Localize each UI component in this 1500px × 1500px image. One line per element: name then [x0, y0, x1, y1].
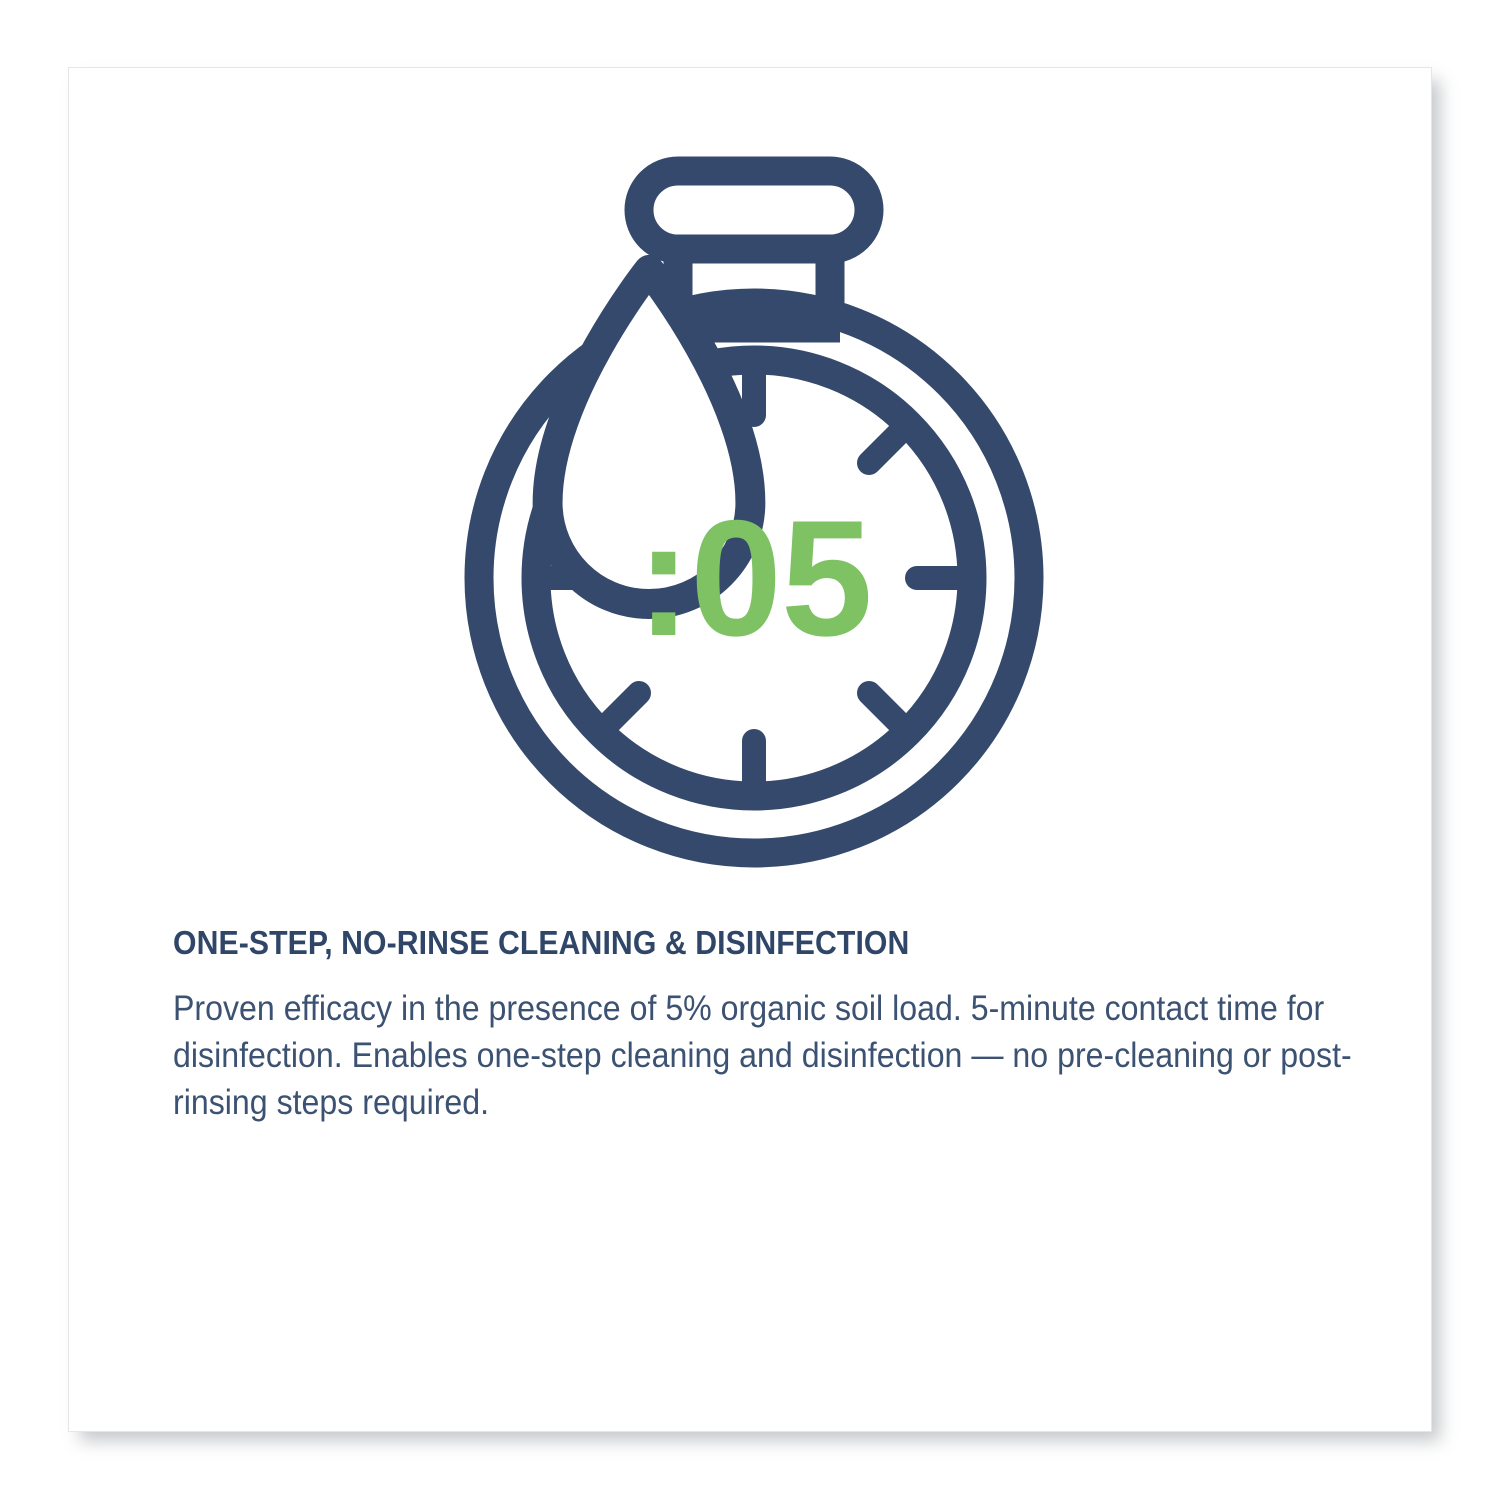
feature-text-block: ONE-STEP, NO-RINSE CLEANING & DISINFECTI… [173, 923, 1398, 1126]
feature-card: :05 ONE-STEP, NO-RINSE CLEANING & DISINF… [68, 67, 1432, 1432]
crown-button-icon [639, 171, 869, 249]
feature-title: ONE-STEP, NO-RINSE CLEANING & DISINFECTI… [173, 923, 1294, 963]
stopwatch-svg: :05 [424, 123, 1084, 863]
page-root: :05 ONE-STEP, NO-RINSE CLEANING & DISINF… [0, 0, 1500, 1500]
feature-description: Proven efficacy in the presence of 5% or… [173, 985, 1395, 1127]
stopwatch-with-water-droplet-icon: :05 [424, 123, 1084, 863]
timer-value-text: :05 [636, 486, 871, 670]
